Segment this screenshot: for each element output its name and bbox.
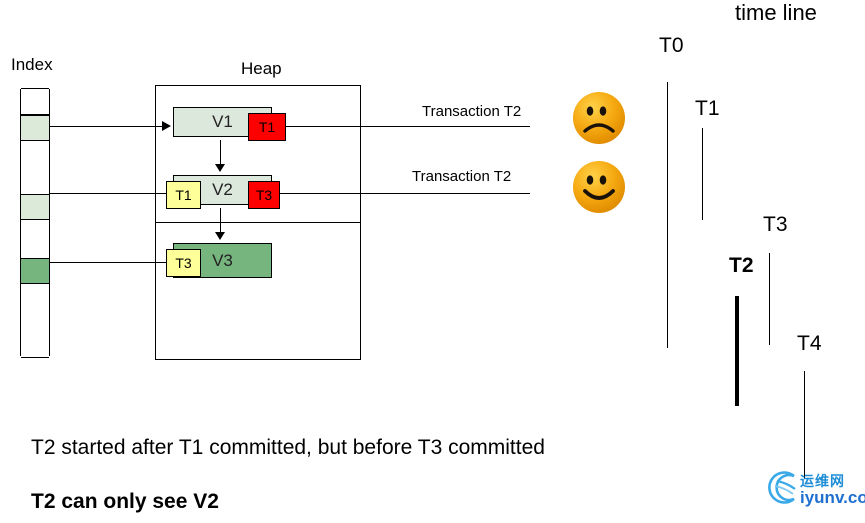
timeline-tick-line-t1	[702, 128, 703, 220]
index-cell-2[interactable]	[21, 115, 49, 141]
watermark-logo: 运维网 iyunv.com	[764, 468, 865, 506]
diagram-canvas: Index Heap time line V1 T1 V2	[0, 0, 865, 523]
badge-xmin-t3[interactable]: T3	[166, 249, 201, 277]
transaction-label-2: Transaction T2	[412, 169, 511, 184]
timeline-title: time line	[735, 2, 817, 24]
transaction-line-2	[279, 193, 530, 194]
badge-label-xmin-t3: T3	[175, 255, 191, 271]
index-cell-1[interactable]	[21, 88, 49, 115]
timeline-tick-label-t3: T3	[763, 214, 788, 235]
heap-title: Heap	[241, 60, 282, 77]
badge-label-t1: T1	[259, 119, 275, 135]
index-cell-4[interactable]	[21, 194, 49, 220]
index-cell-3[interactable]	[21, 140, 49, 195]
index-title: Index	[11, 56, 53, 73]
watermark-en: iyunv.com	[800, 489, 865, 506]
timeline-tick-line-t4	[804, 371, 805, 479]
index-connector-v1	[50, 126, 165, 127]
sad-face-icon	[570, 89, 628, 152]
badge-xmax-t3[interactable]: T3	[248, 181, 280, 209]
timeline-tick-label-t2: T2	[729, 255, 754, 276]
index-connector-v3	[50, 262, 166, 263]
index-column	[20, 89, 50, 356]
caption-line-2: T2 can only see V2	[31, 491, 219, 512]
timeline-tick-label-t0: T0	[659, 35, 684, 56]
watermark-cn: 运维网	[800, 475, 865, 489]
index-cell-7[interactable]	[21, 283, 49, 358]
timeline-tick-line-t3	[769, 253, 770, 345]
version-label-v1: V1	[212, 112, 233, 132]
badge-xmax-t1[interactable]: T1	[248, 113, 286, 141]
version-label-v3: V3	[212, 251, 233, 271]
timeline-tick-line-t2	[735, 296, 739, 406]
version-label-v2: V2	[212, 180, 233, 200]
timeline-tick-label-t4: T4	[797, 333, 822, 354]
index-cell-5[interactable]	[21, 219, 49, 259]
arrow-down-icon-1	[215, 164, 225, 172]
arrow-right-icon-v1	[162, 121, 171, 131]
transaction-line-1	[286, 126, 530, 127]
timeline-tick-label-t1: T1	[695, 98, 720, 119]
badge-xmin-t1[interactable]: T1	[166, 181, 201, 209]
happy-face-icon	[570, 158, 628, 221]
badge-label-xmin-t1: T1	[175, 187, 191, 203]
index-cell-6[interactable]	[21, 258, 49, 284]
index-connector-v2	[50, 193, 166, 194]
badge-label-xmax-t3: T3	[256, 187, 272, 203]
transaction-label-1: Transaction T2	[422, 104, 521, 119]
caption-line-1: T2 started after T1 committed, but befor…	[31, 437, 545, 458]
timeline-tick-line-t0	[667, 82, 668, 348]
heap-divider	[155, 222, 361, 223]
watermark-swoosh-icon	[764, 468, 800, 506]
arrow-down-icon-2	[215, 232, 225, 240]
